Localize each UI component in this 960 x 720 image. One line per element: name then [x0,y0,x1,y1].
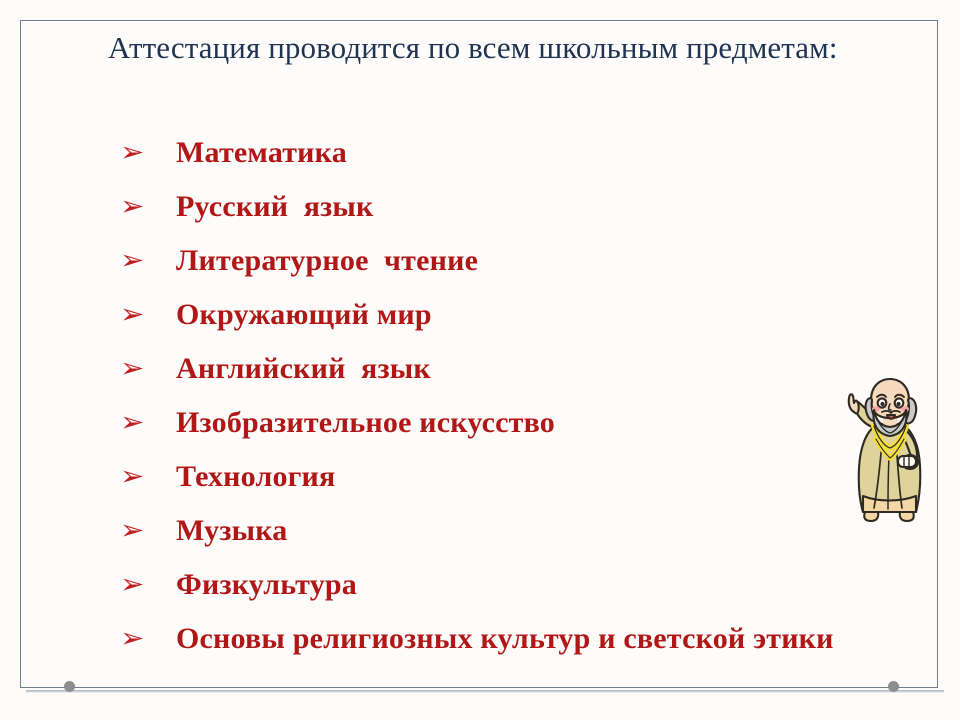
arrowhead-bullet-icon: ➢ [120,612,180,666]
list-item-label: Математика [176,126,930,180]
list-item[interactable]: ➢ Музыка [120,504,930,558]
list-item[interactable]: ➢ Физкультура [120,558,930,612]
list-item-label: Технология [176,450,930,504]
decorative-dot-left [64,681,75,692]
list-item-label: Русский язык [176,180,930,234]
page-title: Аттестация проводится по всем школьным п… [36,28,916,68]
list-item-label: Английский язык [176,342,930,396]
list-item-label: Физкультура [176,558,930,612]
presentation-slide: Аттестация проводится по всем школьным п… [0,0,960,720]
list-item[interactable]: ➢ Окружающий мир [120,288,930,342]
list-item[interactable]: ➢ Русский язык [120,180,930,234]
list-item-label: Окружающий мир [176,288,930,342]
arrowhead-bullet-icon: ➢ [120,450,180,504]
list-item[interactable]: ➢ Английский язык [120,342,930,396]
list-item-label: Изобразительное искусство [176,396,930,450]
list-item[interactable]: ➢ Основы религиозных культур и светской … [120,612,930,666]
list-item[interactable]: ➢ Технология [120,450,930,504]
arrowhead-bullet-icon: ➢ [120,180,180,234]
list-item[interactable]: ➢ Математика [120,126,930,180]
arrowhead-bullet-icon: ➢ [120,288,180,342]
list-item-label: Музыка [176,504,930,558]
arrowhead-bullet-icon: ➢ [120,234,180,288]
frame-shadow [26,690,944,693]
arrowhead-bullet-icon: ➢ [120,558,180,612]
decorative-dot-right [888,681,899,692]
list-item-label: Литературное чтение [176,234,930,288]
list-item[interactable]: ➢ Изобразительное искусство [120,396,930,450]
subject-list: ➢ Математика ➢ Русский язык ➢ Литературн… [120,126,930,666]
arrowhead-bullet-icon: ➢ [120,342,180,396]
list-item-label: Основы религиозных культур и светской эт… [176,612,930,666]
greek-philosopher-illustration [838,376,942,528]
arrowhead-bullet-icon: ➢ [120,504,180,558]
arrowhead-bullet-icon: ➢ [120,126,180,180]
list-item[interactable]: ➢ Литературное чтение [120,234,930,288]
arrowhead-bullet-icon: ➢ [120,396,180,450]
